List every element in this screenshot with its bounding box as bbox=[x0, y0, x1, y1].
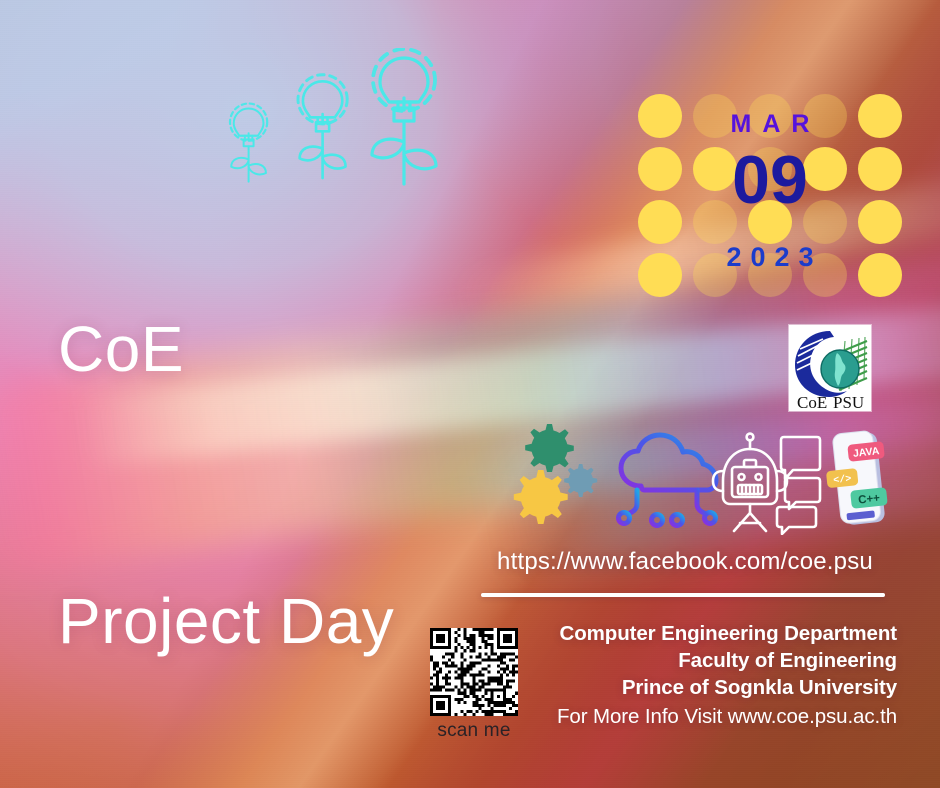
horizontal-divider bbox=[481, 593, 885, 597]
cpp-badge: C++ bbox=[850, 487, 888, 509]
org-line-website: For More Info Visit www.coe.psu.ac.th bbox=[525, 703, 897, 730]
org-line-department: Computer Engineering Department bbox=[525, 620, 897, 647]
code-badge: </> bbox=[826, 468, 859, 488]
gear-icon-group bbox=[505, 418, 610, 533]
technology-icon-row: JAVA </> C++ bbox=[505, 418, 905, 538]
qr-code-image[interactable] bbox=[430, 628, 518, 716]
growing-lightbulb-plants-icon bbox=[216, 48, 466, 218]
coe-psu-logo: CoE PSU bbox=[789, 325, 871, 411]
qr-code-block: scan me bbox=[430, 628, 518, 742]
gear-icon-blue bbox=[564, 464, 597, 497]
svg-text:CoE: CoE bbox=[797, 393, 827, 411]
event-day: 09 bbox=[636, 146, 904, 214]
event-month: MAR bbox=[636, 110, 904, 139]
page-title: CoE Project Day bbox=[58, 122, 394, 788]
cloud-computing-icon bbox=[613, 432, 723, 537]
poster-canvas: CoE Project Day bbox=[0, 0, 940, 788]
event-date-block: MAR 09 2023 bbox=[636, 94, 904, 304]
org-line-university: Prince of Sognkla University bbox=[525, 674, 897, 701]
chatbot-robot-icon bbox=[710, 423, 822, 540]
svg-text:PSU: PSU bbox=[833, 393, 864, 411]
org-line-faculty: Faculty of Engineering bbox=[525, 647, 897, 674]
page-title-line-2: Project Day bbox=[58, 576, 394, 667]
svg-text:C++: C++ bbox=[858, 492, 881, 506]
svg-text:</>: </> bbox=[833, 473, 852, 487]
programming-languages-icon: JAVA </> C++ bbox=[819, 430, 897, 535]
facebook-url[interactable]: https://www.facebook.com/coe.psu bbox=[470, 548, 900, 576]
organization-info: Computer Engineering Department Faculty … bbox=[525, 620, 897, 730]
event-year: 2023 bbox=[636, 242, 904, 273]
qr-caption: scan me bbox=[430, 720, 518, 742]
page-title-line-1: CoE bbox=[58, 304, 394, 395]
